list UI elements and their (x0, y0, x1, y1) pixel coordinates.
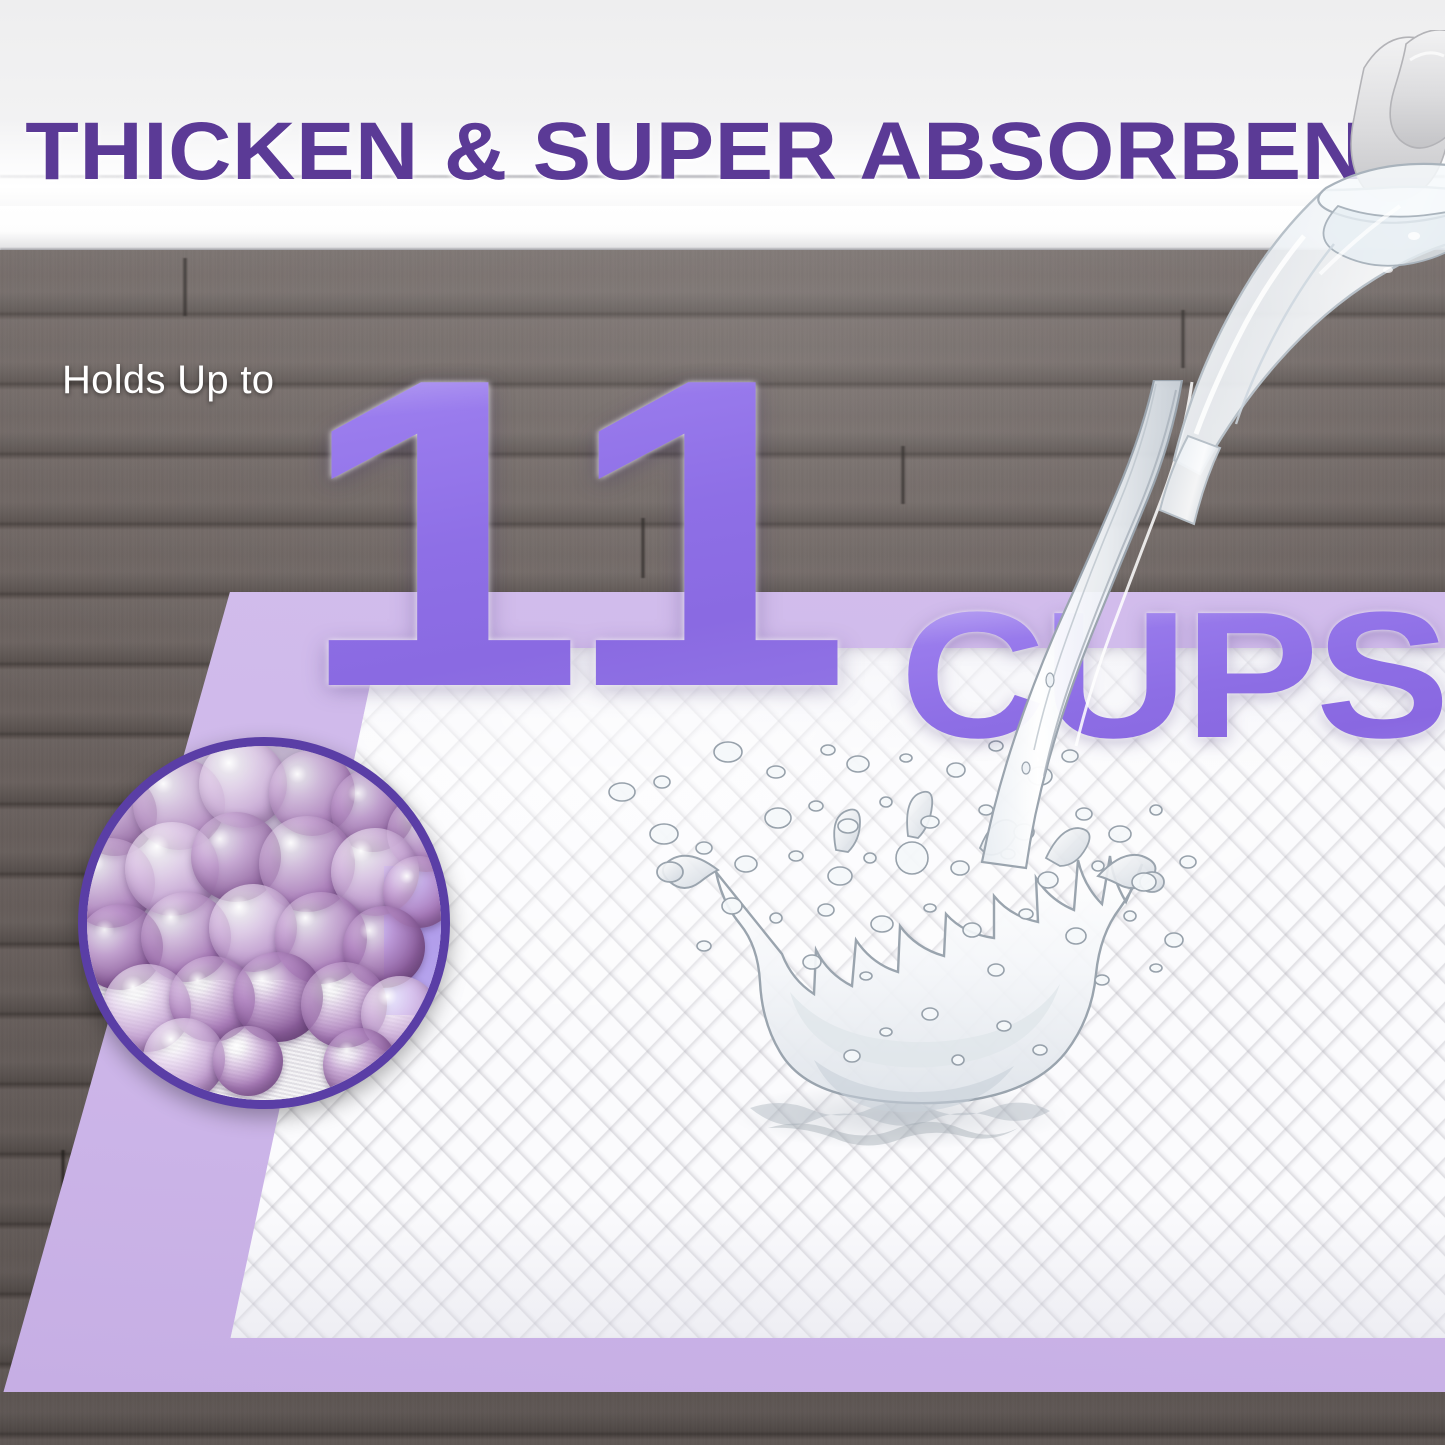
capacity-unit: CUPS (900, 586, 1445, 766)
pouring-pitcher-icon (1148, 30, 1445, 530)
capacity-prefix-label: Holds Up to (62, 358, 274, 403)
product-feature-image: THICKEN & SUPER ABSORBENT Holds Up to 11… (0, 0, 1445, 1445)
bead-photo (87, 746, 441, 1100)
absorbent-gel-beads-closeup (78, 737, 450, 1109)
capacity-amount: 11 (296, 336, 859, 732)
